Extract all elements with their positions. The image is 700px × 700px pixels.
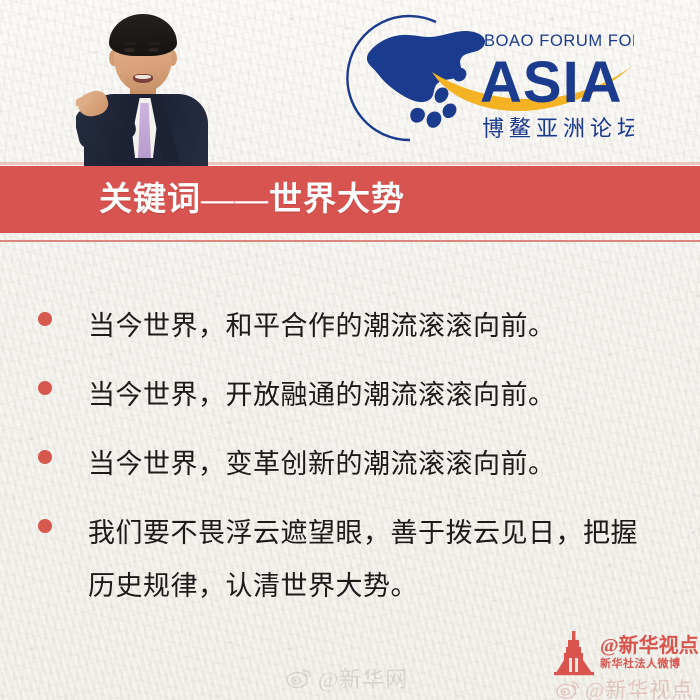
bullet-dot-icon [38,519,52,533]
portrait-hair [109,14,177,56]
list-item: 当今世界，变革创新的潮流滚滚向前。 [0,438,700,491]
portrait-eyebrow-right [147,42,160,45]
speaker-portrait [76,0,216,166]
bullet-dot-icon [38,450,52,464]
list-item-text: 我们要不畏浮云遮望眼，善于拨云见日，把握历史规律，认清世界大势。 [88,507,640,613]
list-item-text: 当今世界，变革创新的潮流滚滚向前。 [88,438,556,491]
corner-watermark-overlay-handle: @新华视点 [585,674,693,700]
corner-watermark-overlay: @新华视点 [556,674,693,700]
corner-watermark-handle: @新华视点 [600,635,699,657]
center-watermark-handle: @新华网 [318,662,408,694]
center-watermark: @新华网 [286,662,408,694]
logo-asia-landmass [367,31,485,128]
logo-wordmark: ASIA [480,50,623,115]
banner-bottom-rule [0,240,700,242]
page-title: 关键词——世界大势 [99,180,405,220]
poster-root: BOAO FORUM FOR ASIA 博鳌亚洲论坛 关键词——世界大势 当今世… [0,0,700,700]
header-section: BOAO FORUM FOR ASIA 博鳌亚洲论坛 [0,0,700,166]
portrait-eye-right [148,48,159,52]
corner-watermark: @新华视点 新华社法人微博 @新华视点 [552,630,700,700]
portrait-eye-left [124,48,135,52]
weibo-icon [556,679,580,700]
list-item-text: 当今世界，开放融通的潮流滚滚向前。 [88,369,556,422]
weibo-icon [286,667,312,689]
list-item: 当今世界，和平合作的潮流滚滚向前。 [0,300,700,353]
corner-watermark-subtitle: 新华社法人微博 [600,657,699,671]
xinhua-tower-icon [552,630,596,676]
portrait-mouth [133,74,153,83]
logo-chinese-name: 博鳌亚洲论坛 [482,116,634,141]
xinhua-brand-text: @新华视点 新华社法人微博 [600,635,699,671]
boao-forum-logo: BOAO FORUM FOR ASIA 博鳌亚洲论坛 [344,8,634,156]
list-item-text: 当今世界，和平合作的潮流滚滚向前。 [88,300,556,353]
bullet-list: 当今世界，和平合作的潮流滚滚向前。 当今世界，开放融通的潮流滚滚向前。 当今世界… [0,300,700,629]
xinhua-brand-lockup: @新华视点 新华社法人微博 [552,630,699,676]
bullet-dot-icon [38,381,52,395]
portrait-eyebrow-left [123,42,136,45]
bullet-dot-icon [38,312,52,326]
boao-forum-logo-svg: BOAO FORUM FOR ASIA 博鳌亚洲论坛 [344,8,634,156]
logo-english-line: BOAO FORUM FOR [484,32,634,50]
list-item: 当今世界，开放融通的潮流滚滚向前。 [0,369,700,422]
list-item: 我们要不畏浮云遮望眼，善于拨云见日，把握历史规律，认清世界大势。 [0,507,700,613]
